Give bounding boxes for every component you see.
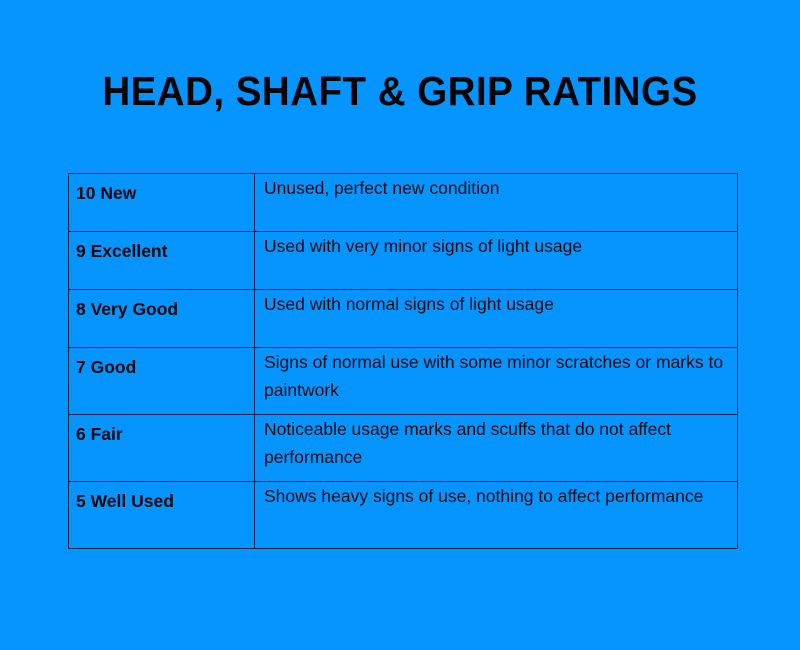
rating-label-cell: 8 Very Good	[69, 290, 255, 348]
slide-canvas: HEAD, SHAFT & GRIP RATINGS 10 New Unused…	[0, 0, 800, 650]
page-title: HEAD, SHAFT & GRIP RATINGS	[24, 68, 776, 114]
table-row: 8 Very Good Used with normal signs of li…	[69, 290, 738, 348]
rating-description-cell: Used with normal signs of light usage	[255, 290, 738, 348]
table-row: 6 Fair Noticeable usage marks and scuffs…	[69, 415, 738, 482]
rating-label-cell: 7 Good	[69, 348, 255, 415]
rating-description-cell: Used with very minor signs of light usag…	[255, 232, 738, 290]
rating-description: Used with normal signs of light usage	[255, 290, 737, 318]
rating-description: Signs of normal use with some minor scra…	[255, 348, 737, 404]
rating-description-cell: Unused, perfect new condition	[255, 174, 738, 232]
rating-label: 5 Well Used	[69, 482, 254, 511]
rating-description-cell: Shows heavy signs of use, nothing to aff…	[255, 482, 738, 549]
ratings-table: 10 New Unused, perfect new condition 9 E…	[68, 173, 738, 549]
rating-description: Unused, perfect new condition	[255, 174, 737, 202]
rating-description: Used with very minor signs of light usag…	[255, 232, 737, 260]
rating-label-cell: 9 Excellent	[69, 232, 255, 290]
rating-description-cell: Signs of normal use with some minor scra…	[255, 348, 738, 415]
table-row: 10 New Unused, perfect new condition	[69, 174, 738, 232]
rating-description: Shows heavy signs of use, nothing to aff…	[255, 482, 737, 510]
rating-label-cell: 10 New	[69, 174, 255, 232]
ratings-table-body: 10 New Unused, perfect new condition 9 E…	[69, 174, 738, 549]
table-row: 5 Well Used Shows heavy signs of use, no…	[69, 482, 738, 549]
rating-description-cell: Noticeable usage marks and scuffs that d…	[255, 415, 738, 482]
table-row: 9 Excellent Used with very minor signs o…	[69, 232, 738, 290]
rating-label-cell: 5 Well Used	[69, 482, 255, 549]
rating-label: 7 Good	[69, 348, 254, 377]
rating-label: 8 Very Good	[69, 290, 254, 319]
rating-label-cell: 6 Fair	[69, 415, 255, 482]
table-row: 7 Good Signs of normal use with some min…	[69, 348, 738, 415]
rating-label: 10 New	[69, 174, 254, 203]
rating-label: 6 Fair	[69, 415, 254, 444]
rating-label: 9 Excellent	[69, 232, 254, 261]
rating-description: Noticeable usage marks and scuffs that d…	[255, 415, 737, 471]
